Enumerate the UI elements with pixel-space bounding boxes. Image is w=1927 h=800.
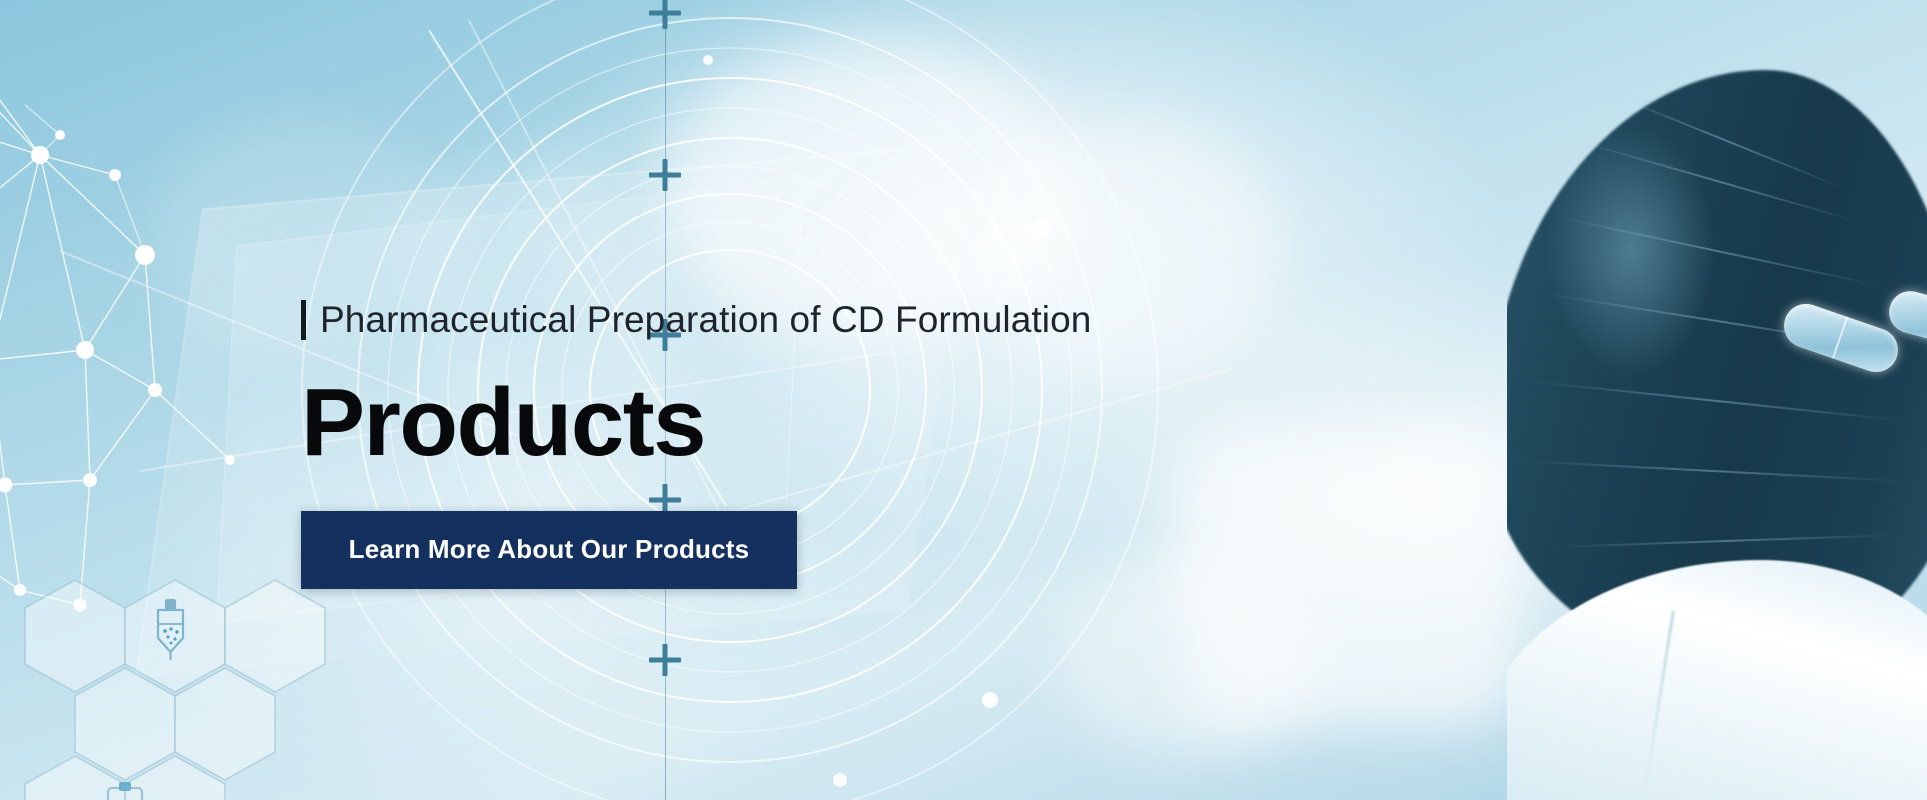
eyebrow-accent-bar (301, 300, 306, 340)
hero-eyebrow: Pharmaceutical Preparation of CD Formula… (301, 300, 1301, 341)
crosshair-marker-2 (645, 155, 685, 195)
learn-more-about-our-products-button[interactable]: Learn More About Our Products (301, 511, 797, 589)
molecule-network-icon (0, 60, 260, 620)
scientist-photo (1507, 0, 1927, 800)
hexagon-pattern-decor (20, 570, 350, 800)
hero-content: Pharmaceutical Preparation of CD Formula… (301, 300, 1301, 589)
hero-banner: Pharmaceutical Preparation of CD Formula… (0, 0, 1927, 800)
crosshair-marker-1 (645, 0, 685, 33)
page-title: Products (301, 375, 1301, 471)
hero-eyebrow-text: Pharmaceutical Preparation of CD Formula… (320, 300, 1091, 341)
crosshair-marker-5 (645, 640, 685, 680)
